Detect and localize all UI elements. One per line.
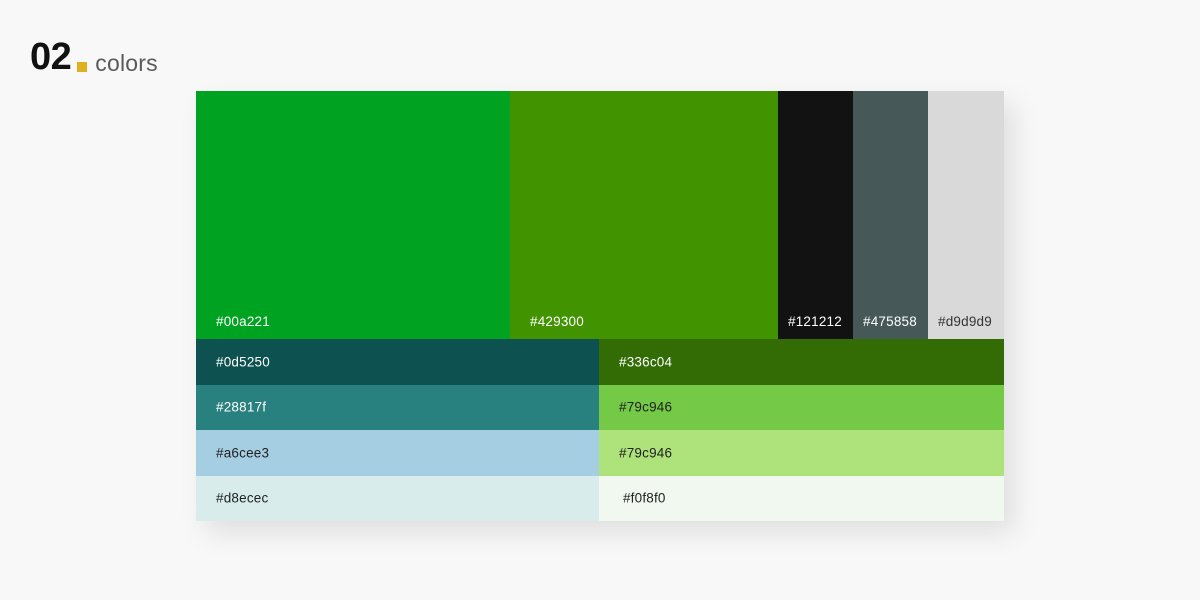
color-swatch-label: #79c946	[619, 445, 672, 460]
section-header: 02 colors	[30, 38, 158, 76]
color-swatch-label: #a6cee3	[216, 445, 269, 460]
palette-bottom-grid: #0d5250 #28817f #a6cee3 #d8ecec #336c04 …	[196, 339, 1004, 521]
color-swatch[interactable]: #429300	[510, 91, 778, 339]
color-swatch-label: #429300	[530, 314, 584, 329]
color-swatch-label: #336c04	[619, 354, 672, 369]
section-title: colors	[95, 52, 158, 75]
color-palette-board: #00a221 #429300 #121212 #475858 #d9d9d9 …	[196, 91, 1004, 521]
color-swatch[interactable]: #475858	[853, 91, 928, 339]
section-number: 02	[30, 38, 71, 76]
color-swatch[interactable]: #79c946	[599, 385, 1004, 431]
color-swatch-label: #d8ecec	[216, 491, 268, 506]
color-swatch-label: #28817f	[216, 400, 266, 415]
palette-top-row: #00a221 #429300 #121212 #475858 #d9d9d9	[196, 91, 1004, 339]
color-swatch[interactable]: #336c04	[599, 339, 1004, 385]
color-swatch[interactable]: #121212	[778, 91, 853, 339]
color-swatch[interactable]: #00a221	[196, 91, 510, 339]
color-swatch[interactable]: #0d5250	[196, 339, 599, 385]
color-swatch-label: #0d5250	[216, 354, 270, 369]
color-swatch[interactable]: #d8ecec	[196, 476, 599, 522]
color-swatch-label: #121212	[788, 314, 842, 329]
color-swatch-label: #79c946	[619, 400, 672, 415]
color-swatch[interactable]: #d9d9d9	[928, 91, 1004, 339]
color-swatch[interactable]: #28817f	[196, 385, 599, 431]
color-swatch[interactable]: #79c946	[599, 430, 1004, 476]
color-swatch[interactable]: #f0f8f0	[599, 476, 1004, 522]
palette-left-column: #0d5250 #28817f #a6cee3 #d8ecec	[196, 339, 599, 521]
bullet-square-icon	[77, 62, 87, 72]
color-swatch-label: #475858	[863, 314, 917, 329]
color-swatch[interactable]: #a6cee3	[196, 430, 599, 476]
palette-right-column: #336c04 #79c946 #79c946 #f0f8f0	[599, 339, 1004, 521]
color-swatch-label: #d9d9d9	[938, 314, 992, 329]
color-swatch-label: #f0f8f0	[619, 491, 666, 506]
color-swatch-label: #00a221	[216, 314, 270, 329]
